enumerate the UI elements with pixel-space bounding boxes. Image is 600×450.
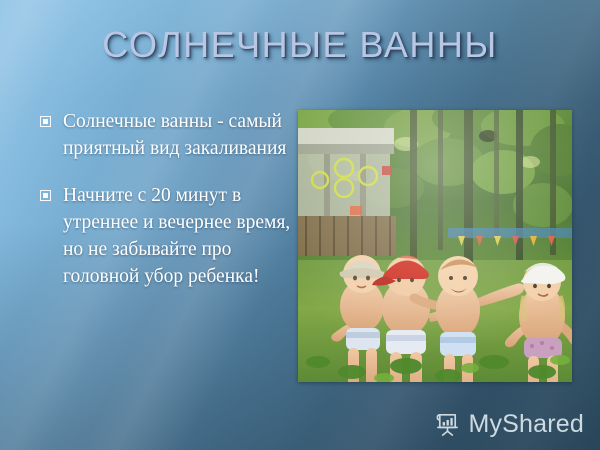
square-bullet-icon [40,116,51,127]
children-outdoors-photo [298,110,572,382]
title-bar: СОЛНЕЧНЫЕ ВАННЫ [0,24,600,66]
list-item-label: Начните с 20 минут в утреннее и вечернее… [63,182,298,290]
watermark: MyShared [434,410,584,438]
list-item: Солнечные ванны - самый приятный вид зак… [40,108,298,162]
bullet-list: Солнечные ванны - самый приятный вид зак… [40,108,298,310]
presentation-chart-icon [434,411,461,438]
list-item: Начните с 20 минут в утреннее и вечернее… [40,182,298,290]
square-bullet-icon [40,190,51,201]
list-item-label: Солнечные ванны - самый приятный вид зак… [63,108,298,162]
page-title: СОЛНЕЧНЫЕ ВАННЫ [102,24,498,66]
presentation-slide: СОЛНЕЧНЫЕ ВАННЫ Солнечные ванны - самый … [0,0,600,450]
watermark-label: MyShared [468,410,584,438]
